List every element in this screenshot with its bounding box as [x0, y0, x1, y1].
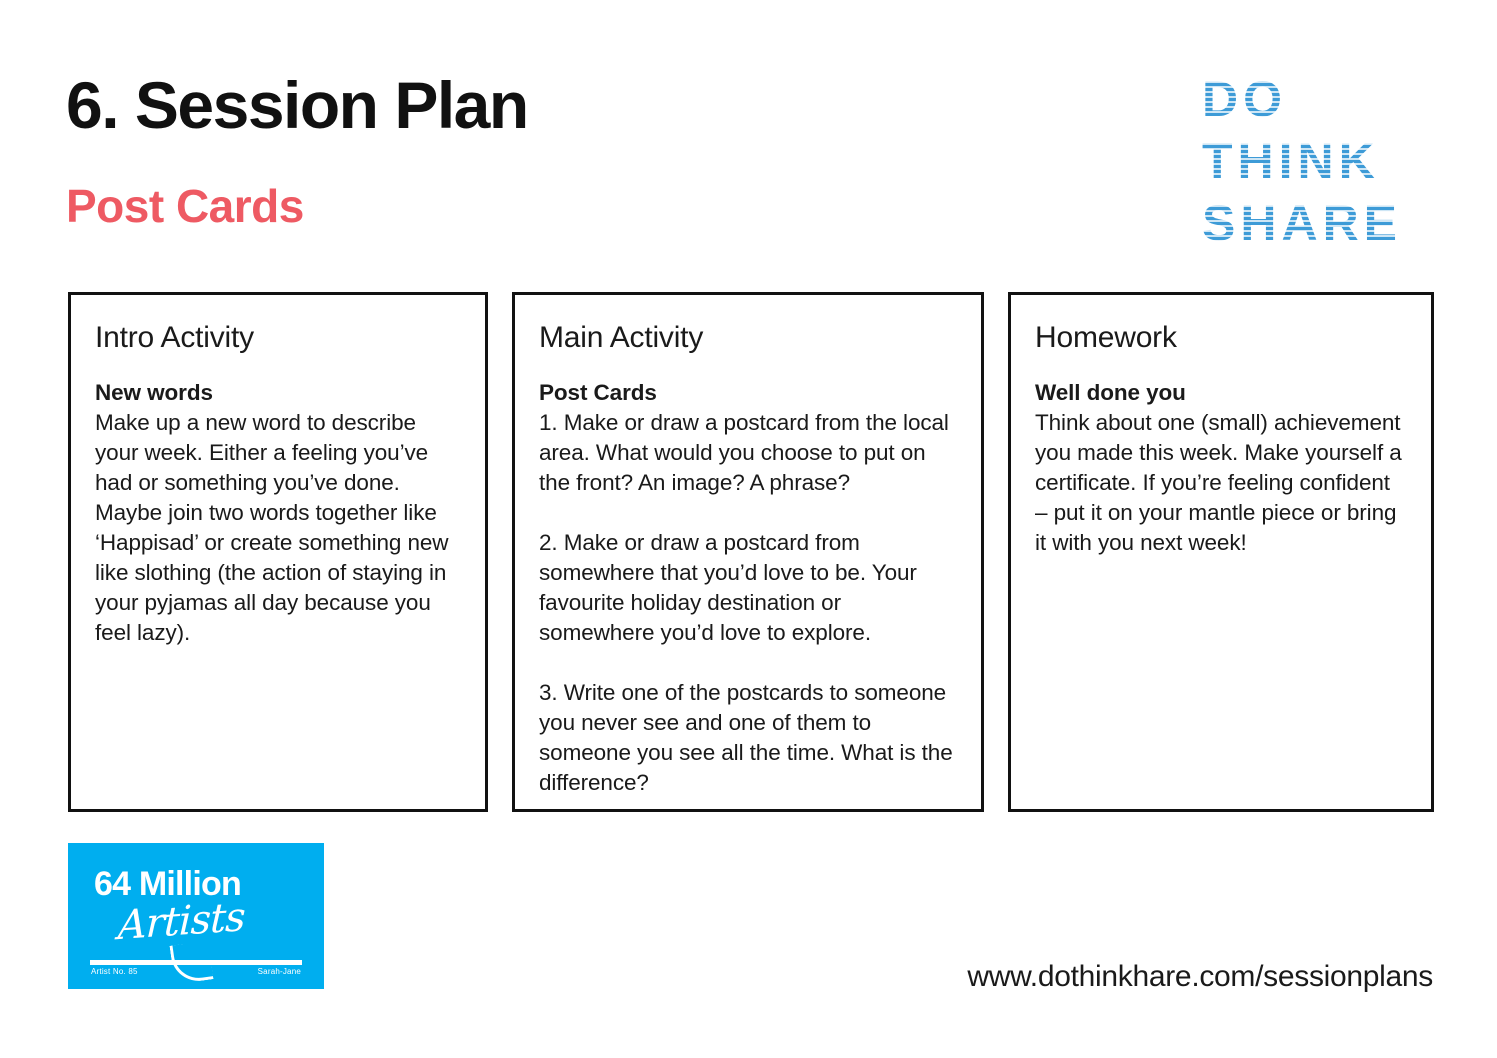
- main-activity-step-1: 1. Make or draw a postcard from the loca…: [539, 410, 949, 495]
- main-activity-paragraph-2: 2. Make or draw a postcard from somewher…: [539, 528, 957, 648]
- sixty-four-million-artists-logo: 64 Million Artists Artist No. 85 Sarah-J…: [68, 843, 324, 989]
- dts-logo-do-text: DO: [1202, 68, 1287, 130]
- main-activity-body: Post Cards1. Make or draw a postcard fro…: [539, 378, 957, 798]
- brand-logo-divider: [90, 960, 302, 965]
- dts-logo-line-think: THINK: [1202, 130, 1442, 192]
- page-subtitle: Post Cards: [66, 183, 304, 229]
- brand-logo-artist-name: Sarah-Jane: [258, 967, 301, 976]
- dts-logo-think-text: THINK: [1202, 130, 1380, 192]
- dts-logo-line-share: SHARE: [1202, 192, 1442, 254]
- dts-logo-share-text: SHARE: [1202, 192, 1402, 254]
- do-think-share-logo: DO THINK SHARE: [1202, 68, 1442, 253]
- intro-activity-title: Intro Activity: [95, 321, 461, 354]
- homework-title: Homework: [1035, 321, 1407, 354]
- brand-logo-artist-number: Artist No. 85: [91, 967, 138, 976]
- main-activity-paragraph-3: 3. Write one of the postcards to someone…: [539, 678, 957, 798]
- intro-activity-paragraph: New wordsMake up a new word to describe …: [95, 378, 461, 648]
- main-activity-card: Main Activity Post Cards1. Make or draw …: [512, 292, 984, 812]
- intro-activity-lead: New words: [95, 378, 461, 408]
- main-activity-paragraph-1: Post Cards1. Make or draw a postcard fro…: [539, 378, 957, 498]
- homework-text: Think about one (small) achievement you …: [1035, 410, 1402, 555]
- homework-body: Well done youThink about one (small) ach…: [1035, 378, 1407, 558]
- footer-url[interactable]: www.dothinkhare.com/sessionplans: [967, 960, 1433, 994]
- homework-lead: Well done you: [1035, 378, 1407, 408]
- intro-activity-text: Make up a new word to describe your week…: [95, 410, 448, 645]
- main-activity-step-2: 2. Make or draw a postcard from somewher…: [539, 530, 917, 645]
- brand-logo-line2-script: Artists: [117, 894, 245, 949]
- homework-card: Homework Well done youThink about one (s…: [1008, 292, 1434, 812]
- homework-paragraph: Well done youThink about one (small) ach…: [1035, 378, 1407, 558]
- main-activity-title: Main Activity: [539, 321, 957, 354]
- main-activity-step-3: 3. Write one of the postcards to someone…: [539, 680, 953, 795]
- page-title: 6. Session Plan: [66, 72, 528, 138]
- main-activity-lead: Post Cards: [539, 378, 957, 408]
- intro-activity-card: Intro Activity New wordsMake up a new wo…: [68, 292, 488, 812]
- dts-logo-line-do: DO: [1202, 68, 1442, 130]
- intro-activity-body: New wordsMake up a new word to describe …: [95, 378, 461, 648]
